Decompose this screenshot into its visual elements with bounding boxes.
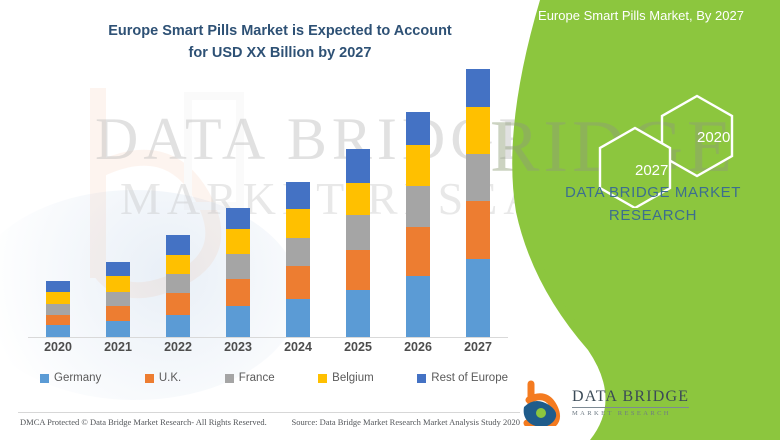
- company-logo: DATA BRIDGE MARKET RESEARCH: [518, 380, 689, 426]
- x-axis-tick: 2027: [448, 340, 508, 354]
- footer: DMCA Protected © Data Bridge Market Rese…: [20, 417, 520, 427]
- bar-segment[interactable]: [286, 182, 310, 210]
- bar-segment[interactable]: [346, 149, 370, 183]
- panel-title: Europe Smart Pills Market, By 2027: [516, 8, 766, 23]
- panel-watermark: RIDGE: [490, 105, 736, 190]
- stacked-bar[interactable]: [226, 208, 250, 337]
- legend-label: Germany: [54, 372, 101, 384]
- bar-segment[interactable]: [46, 281, 70, 292]
- brand-panel: Europe Smart Pills Market, By 2027 RIDGE…: [480, 0, 780, 440]
- bar-segment[interactable]: [346, 290, 370, 337]
- bar-group[interactable]: [148, 69, 208, 337]
- brand-name-line2: RESEARCH: [538, 205, 768, 228]
- bar-segment[interactable]: [106, 292, 130, 306]
- infographic-root: DATA BRIDGE MARKET RESEARCH Europe Smart…: [0, 0, 780, 440]
- x-axis-tick: 2021: [88, 340, 148, 354]
- legend-label: France: [239, 372, 275, 384]
- bar-segment[interactable]: [466, 154, 490, 201]
- bar-segment[interactable]: [466, 259, 490, 337]
- bar-segment[interactable]: [466, 107, 490, 153]
- bar-segment[interactable]: [226, 208, 250, 229]
- stacked-bar[interactable]: [166, 235, 190, 337]
- bar-segment[interactable]: [406, 112, 430, 145]
- bar-segment[interactable]: [166, 315, 190, 338]
- bar-segment[interactable]: [286, 299, 310, 337]
- legend-item[interactable]: U.K.: [145, 372, 181, 384]
- hexagon-label-2020: 2020: [697, 129, 730, 146]
- legend-label: Rest of Europe: [431, 372, 508, 384]
- legend-swatch-icon: [318, 374, 327, 383]
- bar-segment[interactable]: [286, 238, 310, 266]
- legend-item[interactable]: Rest of Europe: [417, 372, 508, 384]
- bar-segment[interactable]: [106, 321, 130, 337]
- bar-group[interactable]: [268, 69, 328, 337]
- bar-segment[interactable]: [166, 274, 190, 293]
- legend-swatch-icon: [145, 374, 154, 383]
- bar-segment[interactable]: [166, 255, 190, 274]
- bar-segment[interactable]: [466, 201, 490, 259]
- page-title: Europe Smart Pills Market is Expected to…: [60, 20, 500, 65]
- bar-segment[interactable]: [46, 315, 70, 326]
- bar-segment[interactable]: [226, 229, 250, 254]
- bar-segment[interactable]: [226, 279, 250, 306]
- chart-legend: GermanyU.K.FranceBelgiumRest of Europe: [34, 372, 514, 384]
- bar-segment[interactable]: [226, 254, 250, 279]
- x-axis-tick: 2025: [328, 340, 388, 354]
- brand-panel-shape: [480, 0, 780, 440]
- bar-group[interactable]: [88, 69, 148, 337]
- x-axis-tick: 2024: [268, 340, 328, 354]
- chart-plot-area: [28, 69, 508, 338]
- bar-segment[interactable]: [346, 183, 370, 215]
- bar-group[interactable]: [328, 69, 388, 337]
- bar-segment[interactable]: [466, 69, 490, 107]
- bar-segment[interactable]: [46, 292, 70, 304]
- bar-segment[interactable]: [166, 235, 190, 255]
- bar-segment[interactable]: [46, 304, 70, 315]
- bar-group[interactable]: [28, 69, 88, 337]
- data-bridge-logo-icon: [518, 380, 564, 426]
- x-axis-tick: 2023: [208, 340, 268, 354]
- bar-segment[interactable]: [406, 186, 430, 226]
- page-title-line2: for USD XX Billion by 2027: [60, 42, 500, 64]
- legend-swatch-icon: [225, 374, 234, 383]
- stacked-bar[interactable]: [46, 281, 70, 337]
- legend-item[interactable]: France: [225, 372, 275, 384]
- brand-name: DATA BRIDGE MARKET RESEARCH: [538, 182, 768, 227]
- stacked-bar[interactable]: [406, 112, 430, 337]
- brand-name-line1: DATA BRIDGE MARKET: [538, 182, 768, 205]
- logo-title: DATA BRIDGE: [572, 389, 689, 406]
- hexagon-group: 2020 2027: [560, 88, 760, 208]
- bar-segment[interactable]: [106, 276, 130, 292]
- bar-segment[interactable]: [46, 325, 70, 337]
- logo-subtitle: MARKET RESEARCH: [572, 407, 689, 417]
- bar-segment[interactable]: [286, 266, 310, 299]
- stacked-bar[interactable]: [466, 69, 490, 337]
- x-axis-tick: 2020: [28, 340, 88, 354]
- bar-segment[interactable]: [346, 215, 370, 250]
- bar-group[interactable]: [448, 69, 508, 337]
- bar-segment[interactable]: [406, 145, 430, 187]
- x-axis-tick: 2022: [148, 340, 208, 354]
- logo-text: DATA BRIDGE MARKET RESEARCH: [572, 389, 689, 417]
- footer-divider: [18, 412, 520, 413]
- bar-group[interactable]: [208, 69, 268, 337]
- bar-segment[interactable]: [406, 227, 430, 277]
- bar-segment[interactable]: [406, 276, 430, 337]
- x-axis-labels: 20202021202220232024202520262027: [28, 340, 508, 354]
- bar-segment[interactable]: [106, 306, 130, 322]
- stacked-bar[interactable]: [286, 182, 310, 337]
- legend-swatch-icon: [40, 374, 49, 383]
- bar-segment[interactable]: [346, 250, 370, 290]
- bar-segment[interactable]: [286, 209, 310, 237]
- bar-group[interactable]: [388, 69, 448, 337]
- hexagon-shapes-icon: [560, 88, 760, 208]
- legend-item[interactable]: Germany: [40, 372, 101, 384]
- hexagon-label-2027: 2027: [635, 162, 668, 179]
- bar-segment[interactable]: [166, 293, 190, 314]
- bar-segment[interactable]: [106, 262, 130, 276]
- stacked-bar-chart: [28, 70, 508, 338]
- footer-source: Source: Data Bridge Market Research Mark…: [291, 417, 520, 427]
- stacked-bar[interactable]: [346, 149, 370, 337]
- legend-item[interactable]: Belgium: [318, 372, 374, 384]
- page-title-line1: Europe Smart Pills Market is Expected to…: [60, 20, 500, 42]
- legend-label: U.K.: [159, 372, 181, 384]
- footer-copyright: DMCA Protected © Data Bridge Market Rese…: [20, 417, 267, 427]
- x-axis-tick: 2026: [388, 340, 448, 354]
- legend-swatch-icon: [417, 374, 426, 383]
- stacked-bar[interactable]: [106, 262, 130, 337]
- legend-label: Belgium: [332, 372, 374, 384]
- bar-segment[interactable]: [226, 306, 250, 337]
